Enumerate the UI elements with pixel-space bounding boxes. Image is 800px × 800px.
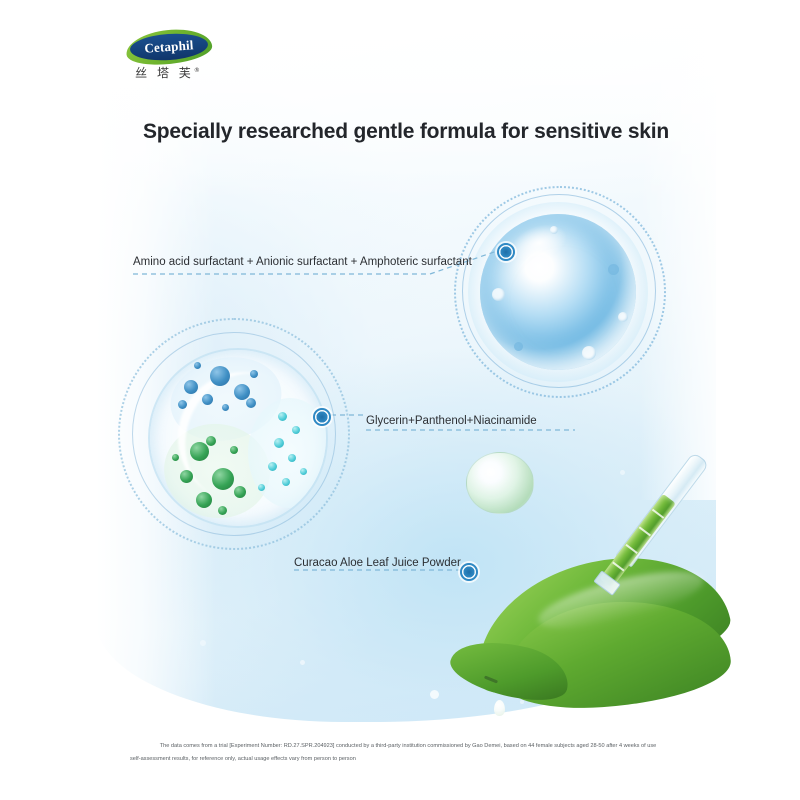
marker-dot-aloe	[460, 563, 478, 581]
leader-lines	[0, 0, 800, 800]
marker-dot-humectants	[313, 408, 331, 426]
callout-label-aloe: Curacao Aloe Leaf Juice Powder	[294, 557, 461, 569]
disclaimer-line-1: The data comes from a trial [Experiment …	[96, 740, 720, 753]
callout-label-surfactants: Amino acid surfactant + Anionic surfacta…	[133, 256, 472, 268]
disclaimer: The data comes from a trial [Experiment …	[96, 740, 720, 766]
callout-label-humectants: Glycerin+Panthenol+Niacinamide	[366, 415, 537, 427]
infographic-page: Cetaphil 丝 塔 芙® Specially researched gen…	[0, 0, 800, 800]
disclaimer-line-2: self-assessment results, for reference o…	[96, 753, 720, 766]
marker-dot-surfactants	[497, 243, 515, 261]
